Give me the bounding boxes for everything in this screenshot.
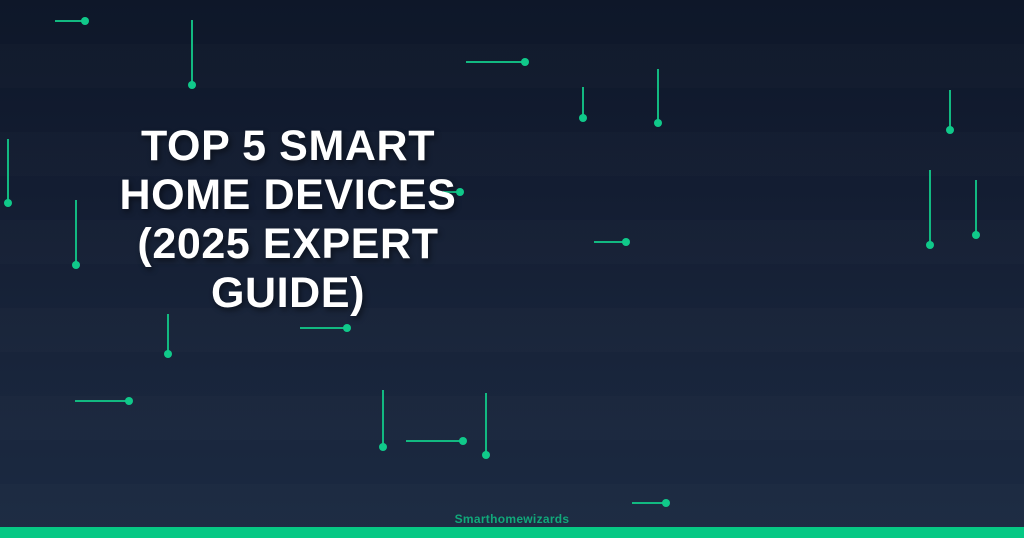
accent-line-dot-1	[55, 17, 88, 25]
accent-dot-icon	[343, 324, 351, 332]
accent-dot-icon	[379, 443, 387, 451]
accent-line	[7, 139, 9, 206]
accent-line	[167, 314, 169, 357]
accent-dot-icon	[926, 241, 934, 249]
blog-header-banner: TOP 5 SMART HOME DEVICES (2025 EXPERT GU…	[0, 0, 1024, 538]
accent-dot-icon	[521, 58, 529, 66]
accent-line	[300, 327, 350, 329]
accent-line-dot-7	[4, 139, 12, 206]
accent-line	[657, 69, 659, 126]
accent-line-dot-11	[926, 170, 934, 248]
title-block: TOP 5 SMART HOME DEVICES (2025 EXPERT GU…	[58, 122, 518, 318]
accent-line	[75, 400, 132, 402]
accent-line-dot-13	[300, 324, 350, 332]
accent-line-dot-17	[482, 393, 490, 458]
accent-line	[582, 87, 584, 121]
accent-line	[406, 440, 466, 442]
accent-line-dot-19	[632, 499, 669, 507]
accent-line	[975, 180, 977, 238]
accent-line	[191, 20, 193, 88]
accent-line	[55, 20, 88, 22]
accent-dot-icon	[972, 231, 980, 239]
accent-dot-icon	[81, 17, 89, 25]
accent-line	[929, 170, 931, 248]
accent-line-dot-14	[164, 314, 172, 357]
accent-line-dot-15	[75, 397, 132, 405]
accent-line	[949, 90, 951, 133]
accent-line-dot-12	[594, 238, 629, 246]
accent-line	[466, 61, 528, 63]
accent-line	[594, 241, 629, 243]
accent-dot-icon	[946, 126, 954, 134]
accent-dot-icon	[188, 81, 196, 89]
accent-line	[632, 502, 669, 504]
accent-line-dot-8	[972, 180, 980, 238]
accent-dot-icon	[654, 119, 662, 127]
accent-dot-icon	[579, 114, 587, 122]
accent-dot-icon	[459, 437, 467, 445]
accent-line-dot-5	[654, 69, 662, 126]
accent-dot-icon	[4, 199, 12, 207]
accent-line	[382, 390, 384, 450]
accent-line-dot-16	[379, 390, 387, 450]
accent-line	[485, 393, 487, 458]
accent-line-dot-4	[579, 87, 587, 121]
accent-line-dot-6	[946, 90, 954, 133]
accent-dot-icon	[164, 350, 172, 358]
page-title: TOP 5 SMART HOME DEVICES (2025 EXPERT GU…	[58, 122, 518, 318]
site-name-label: Smarthomewizards	[0, 512, 1024, 526]
accent-dot-icon	[622, 238, 630, 246]
accent-line-dot-18	[406, 437, 466, 445]
accent-dot-icon	[662, 499, 670, 507]
accent-line-dot-2	[188, 20, 196, 88]
accent-line-dot-3	[466, 58, 528, 66]
accent-dot-icon	[125, 397, 133, 405]
bottom-accent-bar	[0, 527, 1024, 538]
accent-dot-icon	[482, 451, 490, 459]
